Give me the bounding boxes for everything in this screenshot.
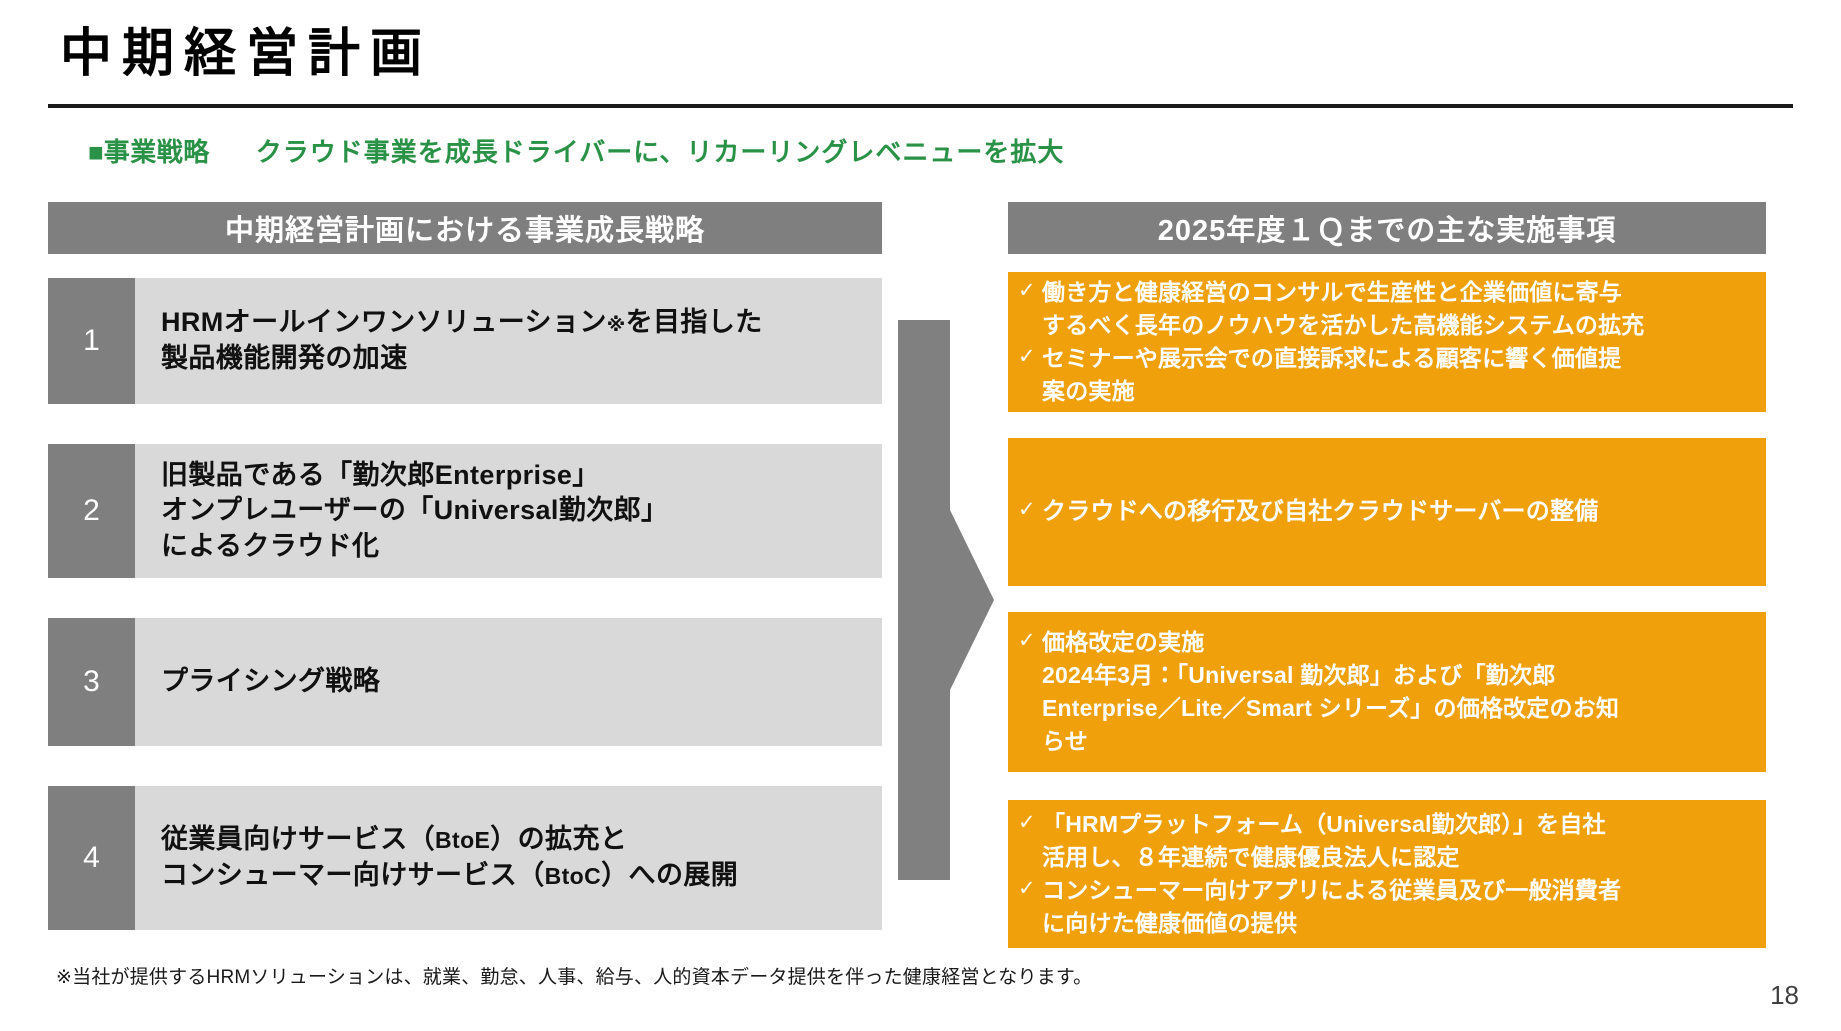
strategy-text: 従業員向けサービス（BtoE）の拡充と コンシューマー向けサービス（BtoC）へ…	[135, 786, 882, 930]
result-text: に向けた健康価値の提供	[1042, 908, 1750, 939]
footnote: ※当社が提供するHRMソリューションは、就業、勤怠、人事、給与、人的資本データ提…	[56, 962, 1092, 989]
strategy-line: ）への展開	[601, 860, 738, 890]
strategy-text: HRMオールインワンソリューション※を目指した 製品機能開発の加速	[135, 278, 882, 404]
result-bullet: ✓ 「HRMプラットフォーム（Universal勤次郎）」を自社	[1018, 809, 1750, 840]
page-title: 中期経営計画	[60, 28, 432, 80]
strategy-text: プライシング戦略	[135, 618, 882, 746]
strategy-row: 3 プライシング戦略	[48, 618, 882, 746]
subtitle-label: 事業戦略	[104, 132, 210, 169]
result-bullet: ✓ 働き方と健康経営のコンサルで生産性と企業価値に寄与	[1018, 277, 1750, 308]
strategy-line: コンシューマー向けサービス（	[161, 860, 545, 890]
strategy-number: 3	[48, 618, 135, 746]
strategy-text: 旧製品である「勤次郎Enterprise」 オンプレユーザーの「Universa…	[135, 444, 882, 578]
result-panel: ✓ クラウドへの移行及び自社クラウドサーバーの整備	[1008, 438, 1766, 586]
square-bullet-icon: ■	[88, 139, 104, 165]
result-text: 価格改定の実施	[1042, 627, 1750, 658]
result-bullet: ✓ に向けた健康価値の提供	[1018, 908, 1750, 939]
result-text: らせ	[1042, 726, 1750, 757]
result-text: 案の実施	[1042, 376, 1750, 407]
result-text: Enterprise／Lite／Smart シリーズ」の価格改定のお知	[1042, 693, 1750, 724]
strategy-row: 2 旧製品である「勤次郎Enterprise」 オンプレユーザーの「Univer…	[48, 444, 882, 578]
btoc-tag: BtoC	[545, 863, 602, 889]
result-bullet: ✓ 案の実施	[1018, 376, 1750, 407]
result-bullet: ✓ Enterprise／Lite／Smart シリーズ」の価格改定のお知	[1018, 693, 1750, 724]
strategy-row: 4 従業員向けサービス（BtoE）の拡充と コンシューマー向けサービス（BtoC…	[48, 786, 882, 930]
result-bullet: ✓ 2024年3月：「Universal 勤次郎」および「勤次郎	[1018, 660, 1750, 691]
result-text: 働き方と健康経営のコンサルで生産性と企業価値に寄与	[1042, 277, 1750, 308]
result-bullet: ✓ セミナーや展示会での直接訴求による顧客に響く価値提	[1018, 343, 1750, 374]
strategy-number: 4	[48, 786, 135, 930]
result-panel: ✓ 価格改定の実施 ✓ 2024年3月：「Universal 勤次郎」および「勤…	[1008, 612, 1766, 772]
title-divider	[48, 104, 1793, 108]
result-text: コンシューマー向けアプリによる従業員及び一般消費者	[1042, 875, 1750, 906]
check-icon: ✓	[1018, 875, 1042, 903]
strategy-line: オンプレユーザーの「Universal勤次郎」	[161, 495, 668, 525]
result-bullet: ✓ コンシューマー向けアプリによる従業員及び一般消費者	[1018, 875, 1750, 906]
right-arrow-icon	[898, 320, 994, 880]
strategy-line: 旧製品である「勤次郎Enterprise」	[161, 460, 600, 490]
result-text: するべく長年のノウハウを活かした高機能システムの拡充	[1042, 310, 1750, 341]
strategy-line: 従業員向けサービス（	[161, 824, 435, 854]
result-panel: ✓ 働き方と健康経営のコンサルで生産性と企業価値に寄与 ✓ するべく長年のノウハ…	[1008, 272, 1766, 412]
strategy-line-end: を目指した	[626, 307, 763, 337]
right-column-header: 2025年度１Ｑまでの主な実施事項	[1008, 202, 1766, 254]
btoe-tag: BtoE	[435, 827, 490, 853]
strategy-line: によるクラウド化	[161, 531, 379, 561]
strategy-line: HRMオールインワンソリューション	[161, 307, 607, 337]
result-bullet: ✓ 活用し、８年連続で健康優良法人に認定	[1018, 842, 1750, 873]
strategy-line: ）の拡充と	[490, 824, 627, 854]
result-text: 「HRMプラットフォーム（Universal勤次郎）」を自社	[1042, 809, 1750, 840]
result-text: 活用し、８年連続で健康優良法人に認定	[1042, 842, 1750, 873]
check-icon: ✓	[1018, 277, 1042, 305]
result-bullet: ✓ らせ	[1018, 726, 1750, 757]
result-panel: ✓ 「HRMプラットフォーム（Universal勤次郎）」を自社 ✓ 活用し、８…	[1008, 800, 1766, 948]
check-icon: ✓	[1018, 627, 1042, 655]
strategy-line: プライシング戦略	[161, 666, 380, 696]
strategy-row: 1 HRMオールインワンソリューション※を目指した 製品機能開発の加速	[48, 278, 882, 404]
result-text: クラウドへの移行及び自社クラウドサーバーの整備	[1042, 496, 1750, 528]
reference-mark: ※	[607, 315, 626, 336]
result-bullet: ✓ クラウドへの移行及び自社クラウドサーバーの整備	[1018, 496, 1750, 528]
result-text: セミナーや展示会での直接訴求による顧客に響く価値提	[1042, 343, 1750, 374]
check-icon: ✓	[1018, 809, 1042, 837]
left-column-header: 中期経営計画における事業成長戦略	[48, 202, 882, 254]
subtitle-text: クラウド事業を成長ドライバーに、リカーリングレベニューを拡大	[256, 132, 1065, 169]
strategy-number: 1	[48, 278, 135, 404]
strategy-number: 2	[48, 444, 135, 578]
result-bullet: ✓ 価格改定の実施	[1018, 627, 1750, 658]
strategy-line: 製品機能開発の加速	[161, 343, 408, 373]
result-bullet: ✓ するべく長年のノウハウを活かした高機能システムの拡充	[1018, 310, 1750, 341]
page-number: 18	[1770, 980, 1799, 1011]
check-icon: ✓	[1018, 343, 1042, 371]
check-icon: ✓	[1018, 496, 1042, 524]
subtitle-row: ■ 事業戦略 クラウド事業を成長ドライバーに、リカーリングレベニューを拡大	[88, 132, 1064, 169]
result-text: 2024年3月：「Universal 勤次郎」および「勤次郎	[1042, 660, 1750, 691]
